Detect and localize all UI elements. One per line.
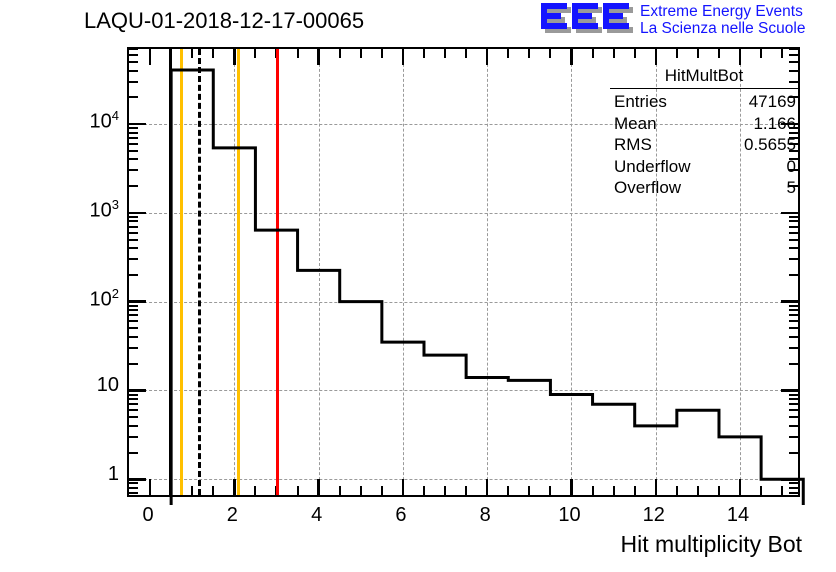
stats-row-value: 5 (787, 177, 796, 199)
stats-divider (610, 88, 798, 89)
stats-row-value: 1.166 (753, 113, 796, 135)
stats-box: HitMultBot Entries47169Mean1.166RMS0.565… (608, 66, 800, 199)
x-axis-tick-label: 0 (118, 504, 178, 527)
x-axis-tick-label: 10 (539, 504, 599, 527)
y-axis-tick-label: 103 (90, 197, 119, 223)
stats-row-value: 0 (787, 156, 796, 178)
stats-row: Entries47169 (608, 91, 800, 113)
stats-row: Overflow5 (608, 177, 800, 199)
y-axis-tick-label: 102 (90, 286, 119, 312)
eee-logo-line1: Extreme Energy Events (640, 3, 805, 20)
stats-row: Underflow0 (608, 156, 800, 178)
x-axis-title: Hit multiplicity Bot (621, 531, 802, 558)
x-axis-tick-label: 12 (624, 504, 684, 527)
stats-title: HitMultBot (608, 66, 800, 87)
stats-row-value: 0.5655 (744, 134, 796, 156)
eee-logo: Extreme Energy Events La Scienza nelle S… (540, 2, 832, 42)
stats-row-label: Underflow (614, 156, 691, 178)
eee-logo-line2: La Scienza nelle Scuole (640, 20, 805, 37)
page-title: LAQU-01-2018-12-17-00065 (84, 8, 364, 34)
stats-row: RMS0.5655 (608, 134, 800, 156)
y-axis-tick-label: 1 (108, 463, 119, 486)
y-axis-tick-label: 10 (97, 374, 119, 397)
stats-row-label: Mean (614, 113, 657, 135)
stats-row: Mean1.166 (608, 113, 800, 135)
x-axis-tick-label: 4 (287, 504, 347, 527)
stats-row-label: RMS (614, 134, 652, 156)
eee-logo-mark-icon (540, 2, 636, 36)
y-axis-tick-label: 104 (90, 108, 119, 134)
x-axis-tick-label: 2 (202, 504, 262, 527)
eee-logo-text: Extreme Energy Events La Scienza nelle S… (640, 3, 805, 37)
stats-row-label: Overflow (614, 177, 681, 199)
root-canvas: LAQU-01-2018-12-17-00065 (0, 0, 836, 572)
x-axis-tick-label: 6 (371, 504, 431, 527)
x-axis-tick-label: 14 (708, 504, 768, 527)
stats-row-label: Entries (614, 91, 667, 113)
stats-row-value: 47169 (749, 91, 796, 113)
x-axis-tick-label: 8 (455, 504, 515, 527)
